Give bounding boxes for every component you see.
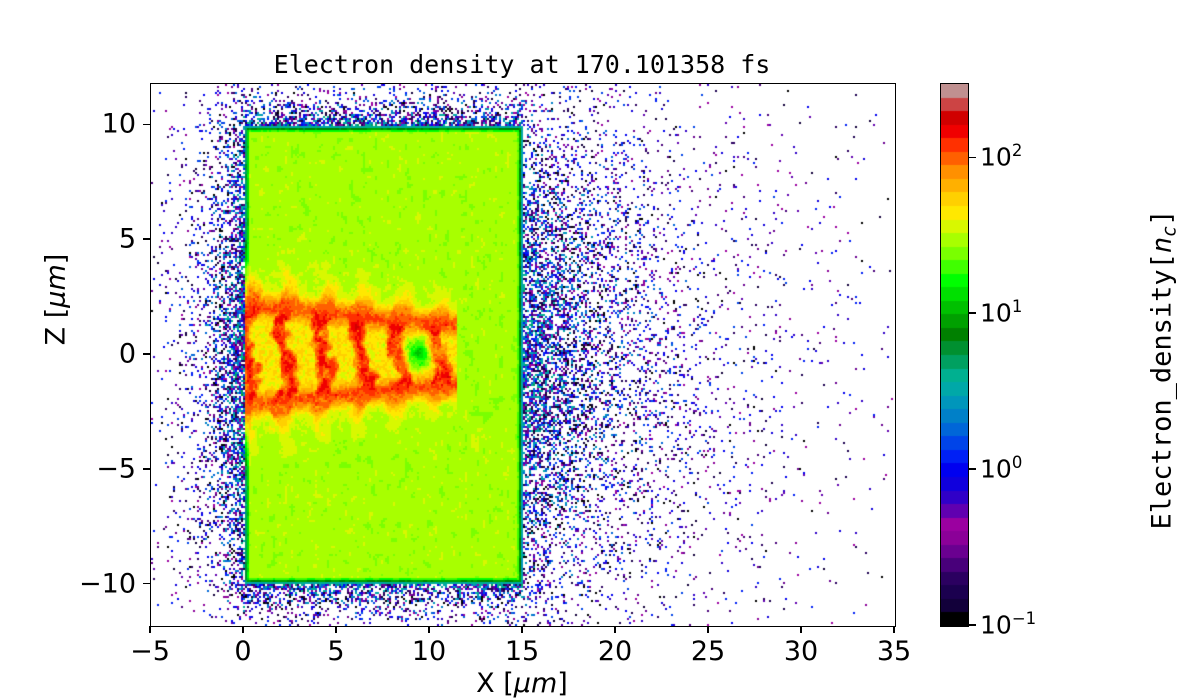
colorbar-tick-mantissa: 10 bbox=[980, 455, 1012, 484]
x-axis-label-units: μm bbox=[514, 668, 557, 699]
x-tick bbox=[614, 626, 616, 633]
colorbar-tick bbox=[969, 312, 976, 314]
x-tick bbox=[707, 626, 709, 633]
colorbar bbox=[940, 83, 969, 627]
colorbar-label-subscript: c bbox=[1160, 226, 1181, 237]
x-tick-label: 25 bbox=[691, 636, 725, 667]
y-tick bbox=[143, 353, 150, 355]
x-tick-label: 35 bbox=[877, 636, 911, 667]
x-tick bbox=[149, 626, 151, 633]
y-tick bbox=[143, 583, 150, 585]
colorbar-tick-mantissa: 10 bbox=[980, 299, 1012, 328]
x-tick bbox=[335, 626, 337, 633]
colorbar-label: Electron_density[nc] bbox=[1147, 160, 1178, 580]
colorbar-tick-label: 100 bbox=[980, 455, 1022, 484]
colorbar-tick-exponent: 1 bbox=[1012, 297, 1023, 316]
colorbar-tick-exponent: 2 bbox=[1012, 142, 1023, 161]
colorbar-tick-label: 101 bbox=[980, 299, 1022, 328]
x-tick bbox=[893, 626, 895, 633]
y-tick-label: 5 bbox=[119, 224, 136, 255]
y-tick-label: 10 bbox=[102, 109, 136, 140]
x-tick-label: 5 bbox=[327, 636, 344, 667]
y-axis-label: Z [μm] bbox=[41, 200, 72, 400]
x-tick bbox=[428, 626, 430, 633]
page-title: Electron density at 170.101358 fs bbox=[150, 50, 894, 79]
y-axis-label-prefix: Z [ bbox=[41, 308, 72, 346]
x-tick bbox=[521, 626, 523, 633]
x-tick-label: 20 bbox=[598, 636, 632, 667]
colorbar-tick-mantissa: 10 bbox=[980, 611, 1012, 640]
colorbar-tick-label: 10−1 bbox=[980, 611, 1036, 640]
colorbar-label-symbol: n bbox=[1147, 237, 1178, 253]
colorbar-tick bbox=[969, 468, 976, 470]
y-tick-label: −5 bbox=[96, 453, 136, 484]
y-tick bbox=[143, 468, 150, 470]
colorbar-label-prefix: Electron_density[ bbox=[1147, 253, 1178, 529]
y-tick-label: 0 bbox=[119, 339, 136, 370]
x-axis-label-suffix: ] bbox=[557, 668, 568, 699]
x-tick-label: 10 bbox=[412, 636, 446, 667]
x-tick-label: 15 bbox=[505, 636, 539, 667]
colorbar-tick-mantissa: 10 bbox=[980, 143, 1012, 172]
plot-axes bbox=[150, 83, 896, 627]
colorbar-tick-exponent: 0 bbox=[1012, 453, 1023, 472]
density-heatmap bbox=[151, 84, 895, 626]
x-tick-label: 0 bbox=[234, 636, 251, 667]
x-axis-label-prefix: X [ bbox=[476, 668, 514, 699]
colorbar-tick-exponent: −1 bbox=[1012, 609, 1036, 628]
x-tick bbox=[800, 626, 802, 633]
colorbar-tick-label: 102 bbox=[980, 143, 1022, 172]
x-tick-label: 30 bbox=[784, 636, 818, 667]
y-axis-label-suffix: ] bbox=[41, 254, 72, 265]
y-tick-label: −10 bbox=[79, 568, 136, 599]
x-tick-label: −5 bbox=[130, 636, 170, 667]
x-axis-label: X [μm] bbox=[150, 668, 894, 699]
y-tick bbox=[143, 238, 150, 240]
colorbar-tick bbox=[969, 157, 976, 159]
x-tick bbox=[242, 626, 244, 633]
colorbar-label-suffix: ] bbox=[1147, 210, 1178, 226]
y-tick bbox=[143, 124, 150, 126]
colorbar-gradient bbox=[941, 84, 968, 626]
colorbar-tick bbox=[969, 624, 976, 626]
y-axis-label-units: μm bbox=[41, 264, 72, 307]
electron-density-figure: Electron density at 170.101358 fs −50510… bbox=[0, 0, 1200, 700]
